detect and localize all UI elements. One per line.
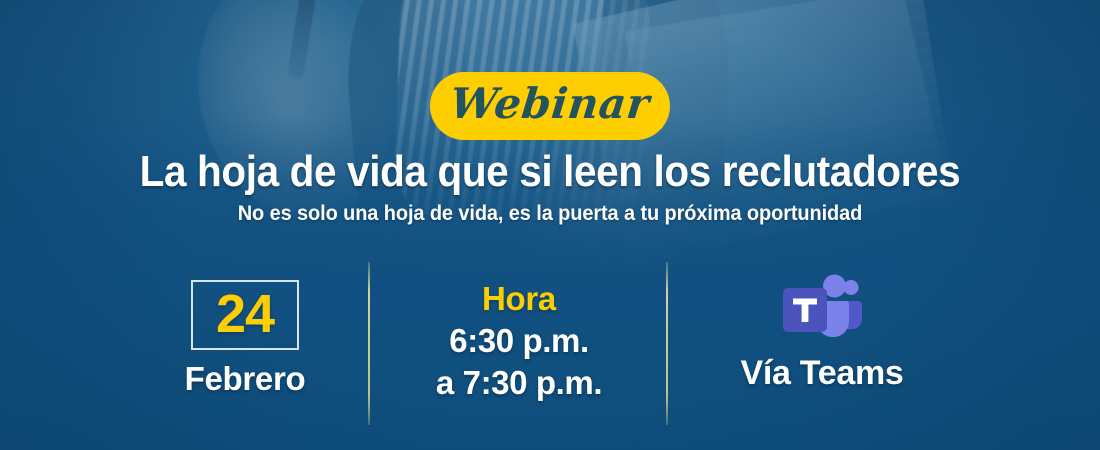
microsoft-teams-icon bbox=[780, 274, 864, 346]
date-day: 24 bbox=[216, 287, 274, 344]
time-start: 6:30 p.m. bbox=[374, 322, 664, 360]
banner-content: Webinar La hoja de vida que si leen los … bbox=[0, 0, 1100, 450]
date-month: Febrero bbox=[120, 360, 370, 398]
webinar-banner: Webinar La hoja de vida que si leen los … bbox=[0, 0, 1100, 450]
platform-label: Vía Teams bbox=[672, 354, 972, 393]
divider-right bbox=[666, 262, 668, 425]
event-info-strip: 24 Febrero Hora 6:30 p.m. a 7:30 p.m. bbox=[0, 262, 1100, 427]
page-subtitle: No es solo una hoja de vida, es la puert… bbox=[28, 202, 1073, 226]
time-end: a 7:30 p.m. bbox=[374, 364, 664, 402]
page-title: La hoja de vida que si leen los reclutad… bbox=[44, 150, 1056, 195]
date-box: 24 bbox=[191, 280, 299, 350]
time-label: Hora bbox=[374, 280, 664, 318]
event-platform-block: Vía Teams bbox=[672, 262, 972, 393]
webinar-badge: Webinar bbox=[430, 72, 670, 140]
event-date-block: 24 Febrero bbox=[120, 262, 370, 398]
webinar-badge-label: Webinar bbox=[448, 83, 652, 129]
event-time-block: Hora 6:30 p.m. a 7:30 p.m. bbox=[374, 262, 664, 402]
